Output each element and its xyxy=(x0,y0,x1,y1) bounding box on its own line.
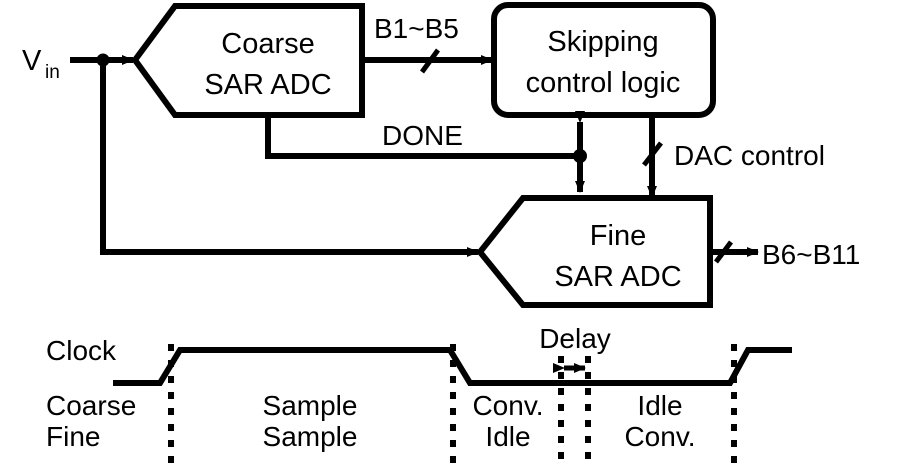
vin-label-sub: in xyxy=(45,62,60,83)
b6-b11-label: B6~B11 xyxy=(762,239,860,270)
coarse-sar-adc-label-line1: Coarse xyxy=(221,28,315,60)
coarse-sar-adc-label-line2: SAR ADC xyxy=(204,69,331,101)
figure-root: V in Coarse SAR ADC B1~B5 Skipping contr… xyxy=(0,0,902,473)
coarse-phase-3: Idle xyxy=(637,390,682,421)
b1-b5-label: B1~B5 xyxy=(374,13,459,44)
skipping-control-logic-label-line1: Skipping xyxy=(547,26,658,58)
fine-phase-3: Conv. xyxy=(624,421,695,452)
vin-input-label: V in xyxy=(22,45,60,83)
done-label: DONE xyxy=(382,120,463,151)
timing-row-label-clock: Clock xyxy=(46,335,117,366)
fine-sar-adc-label-line2: SAR ADC xyxy=(554,261,681,293)
delay-label: Delay xyxy=(539,323,611,354)
done-junction-node xyxy=(573,149,587,163)
sar-adc-block-diagram: V in Coarse SAR ADC B1~B5 Skipping contr… xyxy=(0,0,902,473)
fine-sar-adc-label-line1: Fine xyxy=(590,220,646,252)
coarse-phase-2: Conv. xyxy=(472,390,543,421)
dac-control-label: DAC control xyxy=(674,140,825,171)
timing-row-label-fine: Fine xyxy=(46,421,100,452)
timing-row-label-coarse: Coarse xyxy=(46,390,136,421)
vin-label-main: V xyxy=(22,45,42,77)
coarse-phase-1: Sample xyxy=(263,390,358,421)
fine-phase-1: Sample xyxy=(263,421,358,452)
fine-phase-2: Idle xyxy=(485,421,530,452)
skipping-control-logic-label-line2: control logic xyxy=(526,67,681,99)
